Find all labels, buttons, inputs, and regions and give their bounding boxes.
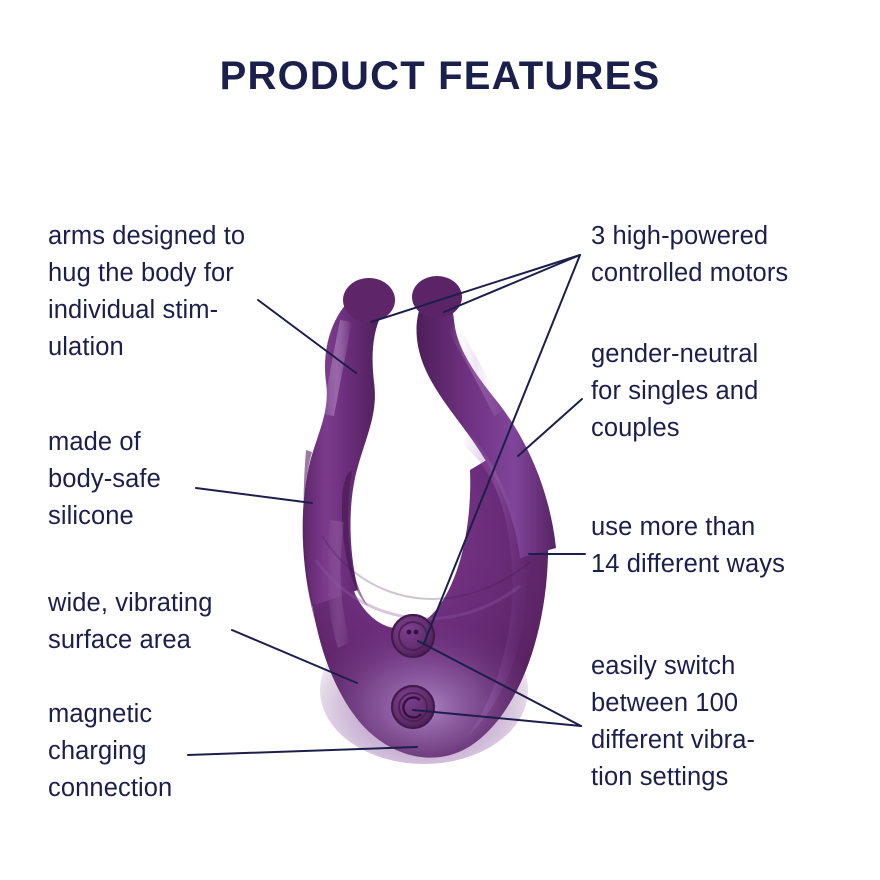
callout-100-vibration-settings: easily switch between 100 different vibr… [591, 648, 861, 796]
lower-button[interactable] [392, 686, 434, 728]
product-body [303, 276, 556, 764]
callout-high-powered-motors: 3 high-powered controlled motors [591, 218, 861, 292]
product-features-infographic: PRODUCT FEATURES [0, 0, 880, 880]
callout-magnetic-charging: magnetic charging connection [48, 696, 268, 807]
callout-wide-vibrating-surface: wide, vibrating surface area [48, 585, 298, 659]
callout-14-different-ways: use more than 14 different ways [591, 509, 861, 583]
callout-arms-designed-to-hug: arms designed to hug the body for indivi… [48, 218, 308, 366]
callout-gender-neutral: gender-neutral for singles and couples [591, 336, 853, 447]
callout-body-safe-silicone: made of body-safe silicone [48, 424, 288, 535]
upper-button[interactable] [392, 615, 434, 657]
